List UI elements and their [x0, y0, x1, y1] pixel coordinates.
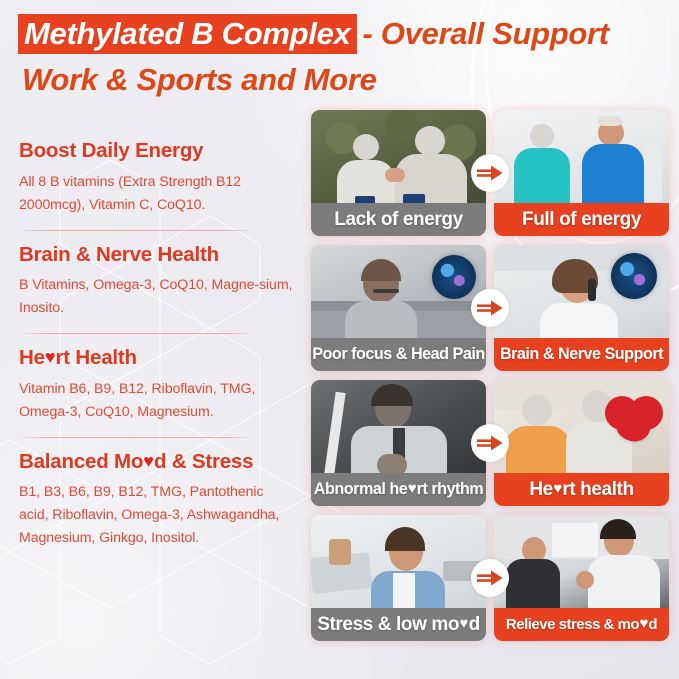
title-line-1: Methylated B Complex- Overall Support: [18, 14, 671, 54]
before-card-energy: Lack of energy: [311, 110, 486, 236]
heart-icon: ♥: [408, 480, 416, 497]
heart-icon: ♥: [143, 451, 154, 471]
before-card-mood: Stress & low mo♥d: [311, 515, 486, 641]
feature-brain-nerve-health: Brain & Nerve Health B Vitamins, Omega-3…: [19, 244, 295, 321]
before-card-heart: Abnormal he♥rt rhythm: [311, 380, 486, 506]
heart-icon: ♥: [45, 347, 56, 367]
divider: [20, 333, 253, 334]
feature-title: Balanced Mo♥d & Stress: [19, 451, 295, 473]
feature-body: B Vitamins, Omega-3, CoQ10, Magne-sium, …: [19, 274, 295, 320]
before-caption: Poor focus & Head Pain: [311, 338, 486, 371]
brain-graphic-icon: [611, 253, 657, 299]
divider: [20, 230, 253, 231]
after-caption: He♥rt health: [494, 473, 669, 506]
title-line-1-rest: - Overall Support: [357, 18, 608, 49]
double-arrow-right-icon: [471, 424, 509, 462]
double-arrow-right-icon: [471, 154, 509, 192]
after-card-energy: Full of energy: [494, 110, 669, 236]
comparison-row-mood: Stress & low mo♥d Relieve stress & mo♥d: [311, 515, 669, 641]
heart-icon: ♥: [640, 615, 648, 632]
after-card-brain: Brain & Nerve Support: [494, 245, 669, 371]
before-caption-post: rt rhythm: [417, 480, 484, 499]
feature-title-post: d & Stress: [154, 450, 253, 473]
before-caption: Abnormal he♥rt rhythm: [311, 473, 486, 506]
brain-graphic-icon: [432, 255, 476, 299]
feature-balanced-mood-stress: Balanced Mo♥d & Stress B1, B3, B6, B9, B…: [19, 451, 295, 551]
header: Methylated B Complex- Overall Support Wo…: [18, 14, 671, 95]
feature-boost-daily-energy: Boost Daily Energy All 8 B vitamins (Ext…: [19, 140, 295, 217]
comparison-row-energy: Lack of energy Full of energy: [311, 110, 669, 236]
feature-title-pre: Balanced Mo: [19, 450, 143, 473]
feature-body: B1, B3, B6, B9, B12, TMG, Pantothenic ac…: [19, 481, 295, 550]
comparison-grid: Lack of energy Full of energy: [311, 110, 669, 650]
double-arrow-right-icon: [471, 289, 509, 327]
title-line-2: Work & Sports and More: [22, 64, 671, 95]
after-caption: Full of energy: [494, 203, 669, 236]
after-caption-pre: He: [529, 479, 553, 501]
feature-heart-health: He♥rt Health Vitamin B6, B9, B12, Ribofl…: [19, 347, 295, 424]
after-card-mood: Relieve stress & mo♥d: [494, 515, 669, 641]
before-card-brain: Poor focus & Head Pain: [311, 245, 486, 371]
product-name-highlight: Methylated B Complex: [18, 14, 357, 54]
feature-list: Boost Daily Energy All 8 B vitamins (Ext…: [19, 140, 295, 550]
before-caption-post: d: [469, 614, 480, 636]
after-caption: Relieve stress & mo♥d: [494, 608, 669, 641]
comparison-row-heart: Abnormal he♥rt rhythm He♥rt health: [311, 380, 669, 506]
comparison-row-brain: Poor focus & Head Pain Brain & Nerve Sup…: [311, 245, 669, 371]
feature-title: He♥rt Health: [19, 347, 295, 369]
heart-icon: ♥: [553, 480, 562, 497]
feature-title: Brain & Nerve Health: [19, 244, 295, 266]
after-card-heart: He♥rt health: [494, 380, 669, 506]
after-caption-post: rt health: [562, 479, 633, 501]
after-caption: Brain & Nerve Support: [494, 338, 669, 371]
before-caption: Stress & low mo♥d: [311, 608, 486, 641]
before-caption: Lack of energy: [311, 203, 486, 236]
before-caption-pre: Abnormal he: [314, 480, 407, 499]
after-caption-post: d: [648, 616, 657, 633]
heart-icon: ♥: [460, 615, 469, 632]
before-caption-pre: Stress & low mo: [317, 614, 459, 636]
feature-body: All 8 B vitamins (Extra Strength B12 200…: [19, 171, 295, 217]
marketing-infographic: Methylated B Complex- Overall Support Wo…: [0, 0, 679, 679]
feature-body: Vitamin B6, B9, B12, Riboflavin, TMG, Om…: [19, 378, 295, 424]
feature-title-post: rt Health: [56, 346, 137, 369]
divider: [20, 437, 253, 438]
feature-title: Boost Daily Energy: [19, 140, 295, 162]
feature-title-pre: He: [19, 346, 45, 369]
after-caption-pre: Relieve stress & mo: [506, 616, 639, 633]
double-arrow-right-icon: [471, 559, 509, 597]
